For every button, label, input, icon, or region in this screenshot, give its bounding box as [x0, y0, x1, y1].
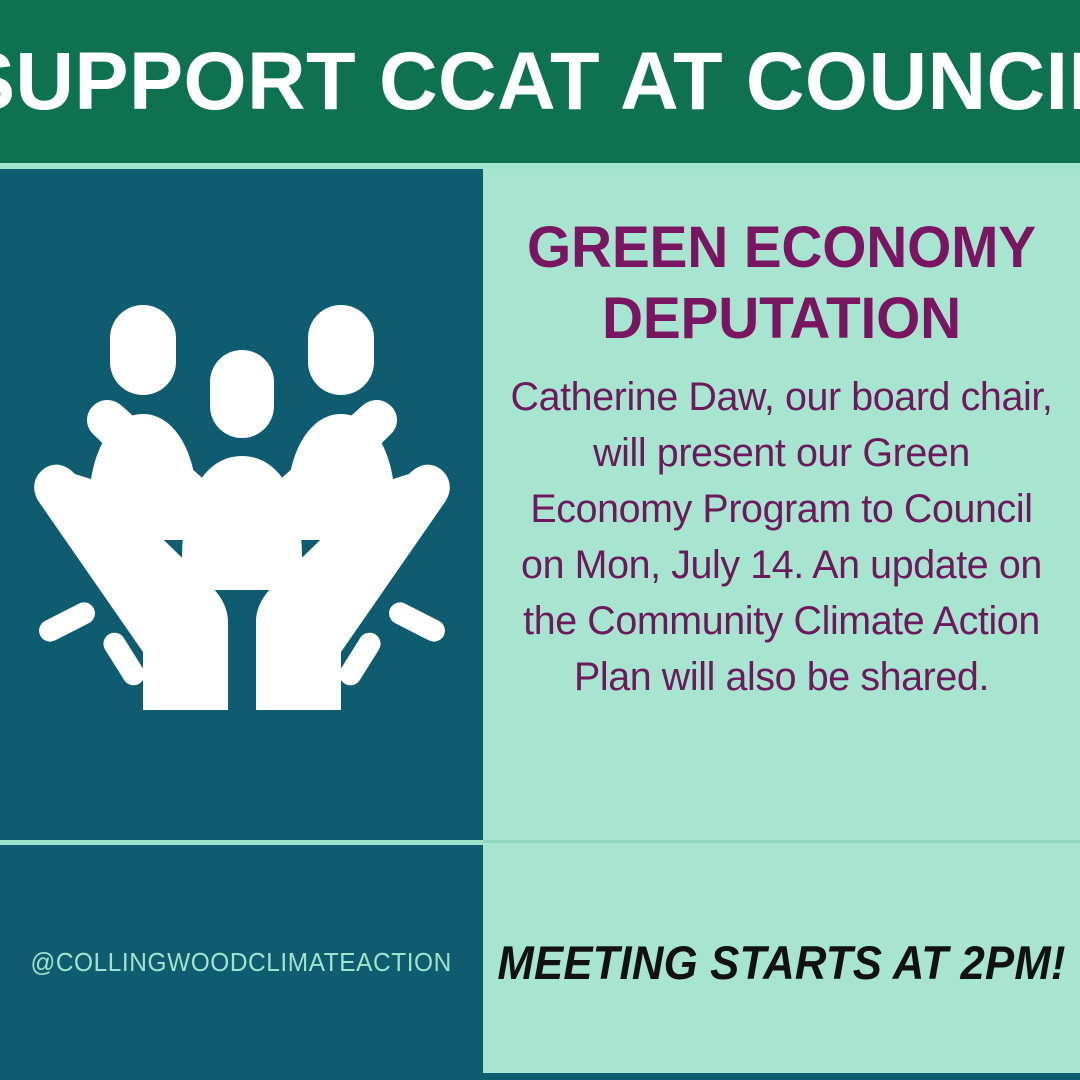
right-panel-divider [483, 840, 1080, 843]
poster-canvas: SUPPORT CCAT AT COUNCIL [0, 0, 1080, 1080]
social-handle: @COLLINGWOODCLIMATEACTION [0, 845, 483, 1080]
page-title: SUPPORT CCAT AT COUNCIL [0, 41, 1080, 123]
meeting-time-text: MEETING STARTS AT 2PM! [497, 935, 1065, 990]
social-handle-text: @COLLINGWOODCLIMATEACTION [31, 947, 452, 978]
hands-holding-people-icon [0, 169, 483, 840]
header-banner: SUPPORT CCAT AT COUNCIL [0, 0, 1080, 163]
deputation-body-text: Catherine Daw, our board chair, will pre… [509, 369, 1054, 705]
bottom-edge-strip [483, 1073, 1080, 1080]
meeting-time-banner: MEETING STARTS AT 2PM! [483, 845, 1080, 1080]
right-panel-content: GREEN ECONOMY DEPUTATION Catherine Daw, … [483, 169, 1080, 840]
header-divider-rule [0, 163, 1080, 169]
deputation-title: GREEN ECONOMY DEPUTATION [511, 213, 1053, 355]
